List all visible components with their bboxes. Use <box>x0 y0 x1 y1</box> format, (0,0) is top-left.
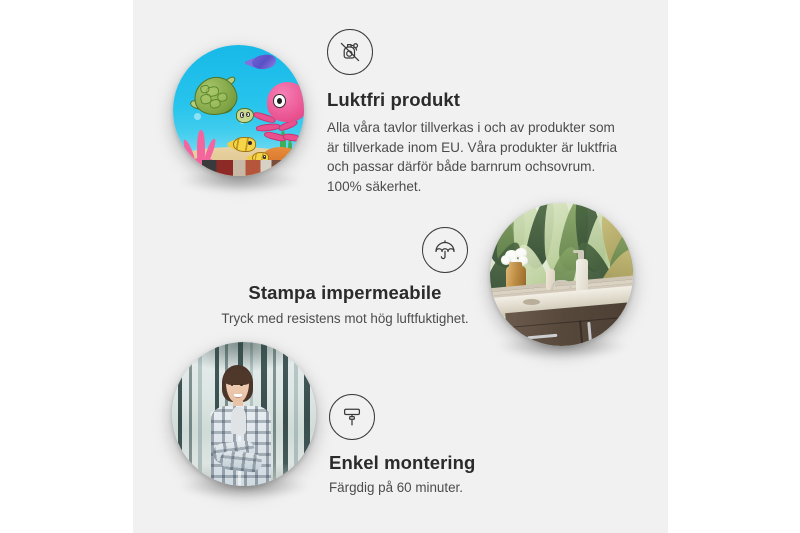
faucet-icon <box>551 280 571 290</box>
soap-dispenser <box>576 259 588 292</box>
installer-person <box>204 365 279 486</box>
no-perfume-icon <box>327 29 373 75</box>
feature-body: Alla våra tavlor tillverkas i och av pro… <box>327 118 627 196</box>
feature-title: Stampa impermeabile <box>210 282 480 304</box>
feature-odourless: Luktfri produkt Alla våra tavlor tillver… <box>327 29 627 196</box>
feature-waterproof: Stampa impermeabile Tryck med resistens … <box>210 227 480 328</box>
undershirt <box>231 407 245 434</box>
feature-title: Luktfri produkt <box>327 89 627 111</box>
paint-roller-icon <box>329 394 375 440</box>
bathroom-disc <box>490 203 633 346</box>
hair-front <box>224 369 251 385</box>
octopus-icon <box>252 82 304 148</box>
blue-fish-icon <box>252 55 276 69</box>
sea-life-disc <box>173 45 304 176</box>
feature-body: Färgdig på 60 minuter. <box>329 478 609 497</box>
promo-canvas: Luktfri produkt Alla våra tavlor tillver… <box>0 0 800 533</box>
smile <box>234 394 242 398</box>
coral-icon <box>178 124 225 166</box>
feature-easy-mounting: Enkel montering Färgdig på 60 minuter. <box>329 394 609 497</box>
umbrella-icon <box>422 227 468 273</box>
installer-disc <box>172 342 316 486</box>
sea-turtle-icon <box>191 75 251 125</box>
print-edge-strip <box>202 160 283 176</box>
feature-title: Enkel montering <box>329 452 609 474</box>
feature-body: Tryck med resistens mot hög luftfuktighe… <box>210 309 480 328</box>
